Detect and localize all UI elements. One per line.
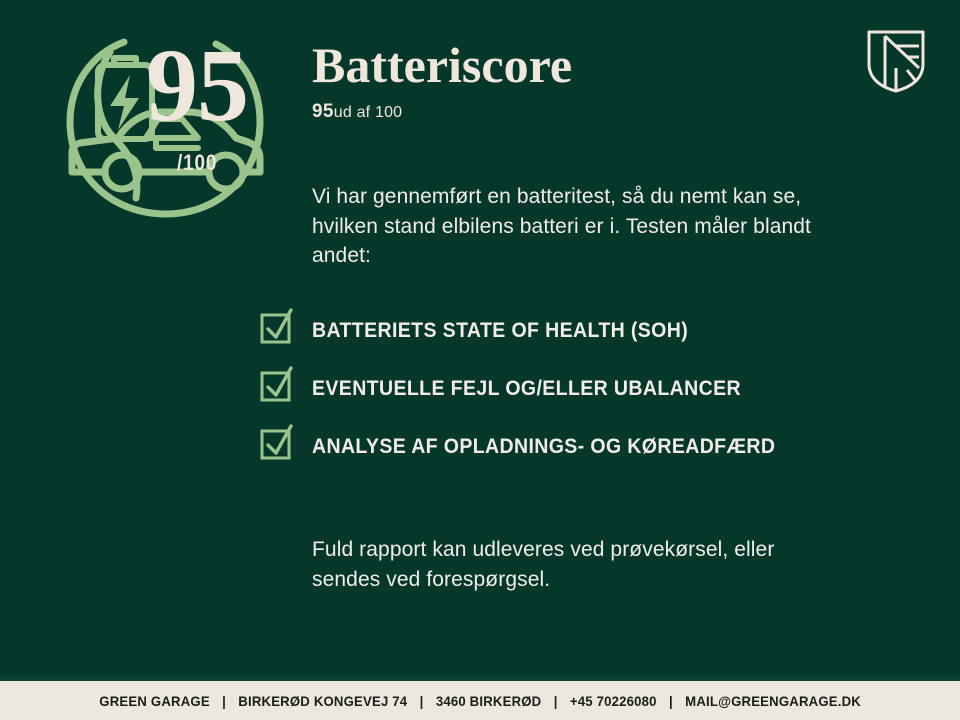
intro-paragraph: Vi har gennemført en batteritest, så du … <box>312 182 852 271</box>
brand-logo <box>865 28 927 94</box>
footer-street: BIRKERØD KONGEVEJ 74 <box>238 693 407 709</box>
score-subtitle-suffix: ud af 100 <box>334 104 403 121</box>
footer-company: GREEN GARAGE <box>99 693 209 709</box>
page-title: Batteriscore <box>312 38 872 92</box>
checklist-item-label: EVENTUELLE FEJL OG/ELLER UBALANCER <box>312 377 741 401</box>
score-badge: 95 /100 <box>48 22 288 238</box>
outro-paragraph: Fuld rapport kan udleveres ved prøvekørs… <box>312 535 842 594</box>
checkbox-checked-icon <box>258 422 298 462</box>
footer-separator: | <box>660 693 681 709</box>
footer-phone[interactable]: +45 70226080 <box>570 693 657 709</box>
checklist-item: ANALYSE AF OPLADNINGS- OG KØREADFÆRD <box>258 422 878 480</box>
footer-city: 3460 BIRKERØD <box>436 693 542 709</box>
checklist-item: EVENTUELLE FEJL OG/ELLER UBALANCER <box>258 364 878 422</box>
footer-separator: | <box>411 693 432 709</box>
checkbox-checked-icon <box>258 364 298 404</box>
badge-score-number: 95 <box>146 34 336 138</box>
footer-contact-line: GREEN GARAGE | BIRKERØD KONGEVEJ 74 | 34… <box>99 693 861 709</box>
footer-email[interactable]: MAIL@GREENGARAGE.DK <box>685 693 861 709</box>
batteriscore-poster: 95 /100 Batteriscore 95ud af 100 Vi har … <box>0 0 960 720</box>
checklist-item: BATTERIETS STATE OF HEALTH (SOH) <box>258 306 878 364</box>
feature-checklist: BATTERIETS STATE OF HEALTH (SOH) EVENTUE… <box>258 306 878 480</box>
footer-separator: | <box>213 693 234 709</box>
checklist-item-label: BATTERIETS STATE OF HEALTH (SOH) <box>312 319 688 343</box>
score-subtitle-number: 95 <box>312 101 334 122</box>
checklist-item-label: ANALYSE AF OPLADNINGS- OG KØREADFÆRD <box>312 435 775 459</box>
checkbox-checked-icon <box>258 306 298 346</box>
badge-score-max: /100 <box>177 150 217 176</box>
green-garage-shield-logo-icon <box>865 28 927 94</box>
headline-block: Batteriscore 95ud af 100 <box>312 38 872 123</box>
footer-separator: | <box>545 693 566 709</box>
footer-bar: GREEN GARAGE | BIRKERØD KONGEVEJ 74 | 34… <box>0 681 960 720</box>
score-subtitle: 95ud af 100 <box>312 101 872 123</box>
